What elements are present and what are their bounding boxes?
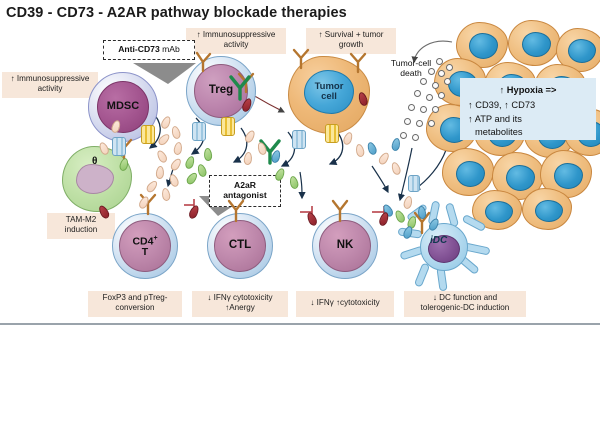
a2a-receptor-icon [294,50,308,68]
cd39-barrel-icon [141,125,155,144]
a2a-receptor-icon [229,201,243,221]
pathway-figure: CD39 - CD73 - A2AR pathway blockade ther… [0,0,600,432]
legend-panel: ATP AMP Adenosine A2a Receptor antagonis… [0,327,600,432]
a2a-receptor-icon [197,53,210,71]
cd73-barrel-icon [292,130,306,149]
a2a-receptor-icon [333,201,347,221]
legend-separator [0,323,600,325]
cd39-barrel-icon [325,124,339,143]
cd73-barrel-icon [112,137,126,156]
cd73-barrel-icon [408,175,420,192]
cd73-barrel-icon [192,122,206,141]
cd39-barrel-icon [221,117,235,136]
a2a-receptor-icon [351,54,365,72]
